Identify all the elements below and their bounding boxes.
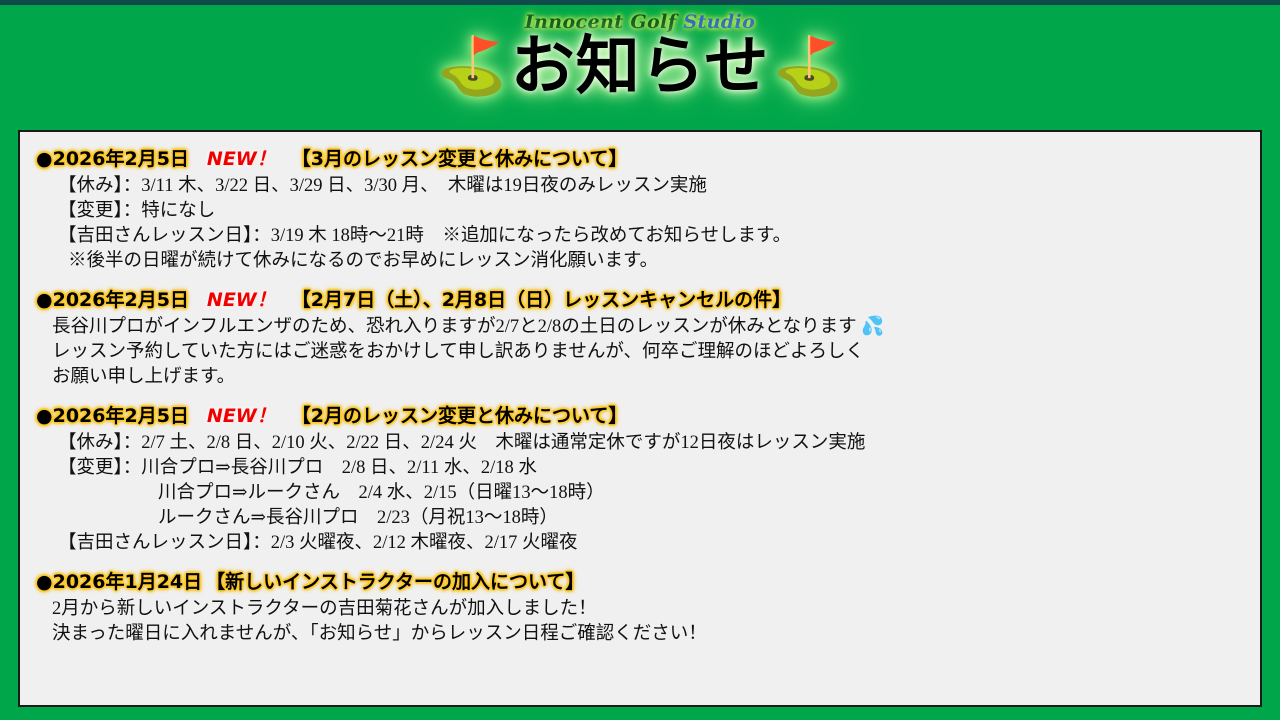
notice-body: 【休み】：2/7 土、2/8 日、2/10 火、2/22 日、2/24 火 木曜… (36, 431, 1244, 556)
new-badge: NEW！ (207, 148, 276, 170)
page-title: お知らせ (511, 35, 770, 99)
notice-line: お願い申し上げます。 (36, 365, 1244, 390)
notice-panel[interactable]: ●2026年2月5日NEW！【3月のレッスン変更と休みについて】【休み】：3/1… (18, 130, 1262, 707)
notice-subject: 【2月7日（土）、2月8日（日）レッスンキャンセルの件】 (292, 289, 791, 311)
notice-headline: ●2026年1月24日【新しいインストラクターの加入について】 (36, 569, 1244, 595)
notice-date: 2026年2月5日 (53, 148, 189, 170)
notice-block: ●2026年1月24日【新しいインストラクターの加入について】2月から新しいイン… (36, 569, 1244, 647)
notice-headline: ●2026年2月5日NEW！【3月のレッスン変更と休みについて】 (36, 146, 1244, 172)
notice-line: 【休み】：3/11 木、3/22 日、3/29 日、3/30 月、 木曜は19日… (36, 174, 1244, 199)
bullet-icon: ● (36, 148, 53, 170)
notice-headline: ●2026年2月5日NEW！【2月7日（土）、2月8日（日）レッスンキャンセルの… (36, 287, 1244, 313)
notice-line: 【吉田さんレッスン日】：3/19 木 18時〜21時 ※追加になったら改めてお知… (36, 224, 1244, 249)
notice-date: 2026年1月24日 (53, 571, 203, 593)
notice-body: 2月から新しいインストラクターの吉田菊花さんが加入しました！決まった曜日に入れま… (36, 597, 1244, 647)
new-badge: NEW！ (207, 405, 276, 427)
notice-line: ルークさん⇒長谷川プロ 2/23（月祝13〜18時） (36, 506, 1244, 531)
golf-flag-icon-right: ⛳ (773, 39, 843, 95)
notice-line: 【変更】：特になし (36, 199, 1244, 224)
notice-block: ●2026年2月5日NEW！【3月のレッスン変更と休みについて】【休み】：3/1… (36, 146, 1244, 274)
notice-date: 2026年2月5日 (53, 289, 189, 311)
notice-line: 【休み】：2/7 土、2/8 日、2/10 火、2/22 日、2/24 火 木曜… (36, 431, 1244, 456)
notice-line: ※後半の日曜が続けて休みになるのでお早めにレッスン消化願います。 (36, 249, 1244, 274)
notice-subject: 【新しいインストラクターの加入について】 (206, 571, 584, 593)
golf-flag-icon-left: ⛳ (437, 39, 507, 95)
notice-body: 【休み】：3/11 木、3/22 日、3/29 日、3/30 月、 木曜は19日… (36, 174, 1244, 274)
notice-subject: 【2月のレッスン変更と休みについて】 (292, 405, 628, 427)
notice-line: レッスン予約していた方にはご迷惑をおかけして申し訳ありませんが、何卒ご理解のほど… (36, 340, 1244, 365)
notice-date: 2026年2月5日 (53, 405, 189, 427)
notice-headline: ●2026年2月5日NEW！【2月のレッスン変更と休みについて】 (36, 403, 1244, 429)
notice-line: 長谷川プロがインフルエンザのため、恐れ入りますが2/7と2/8の土日のレッスンが… (36, 315, 1244, 340)
site-header: Innocent Golf Studio ⛳ お知らせ ⛳ (0, 5, 1280, 130)
bullet-icon: ● (36, 571, 53, 593)
bullet-icon: ● (36, 289, 53, 311)
notice-block: ●2026年2月5日NEW！【2月のレッスン変更と休みについて】【休み】：2/7… (36, 403, 1244, 556)
notice-line: 【吉田さんレッスン日】：2/3 火曜夜、2/12 木曜夜、2/17 火曜夜 (36, 531, 1244, 556)
notice-line: 2月から新しいインストラクターの吉田菊花さんが加入しました！ (36, 597, 1244, 622)
notice-body: 長谷川プロがインフルエンザのため、恐れ入りますが2/7と2/8の土日のレッスンが… (36, 315, 1244, 390)
notice-block: ●2026年2月5日NEW！【2月7日（土）、2月8日（日）レッスンキャンセルの… (36, 287, 1244, 390)
notice-line: 【変更】：川合プロ⇒長谷川プロ 2/8 日、2/11 水、2/18 水 (36, 456, 1244, 481)
notice-line: 決まった曜日に入れませんが、「お知らせ」からレッスン日程ご確認ください！ (36, 622, 1244, 647)
page-title-row: ⛳ お知らせ ⛳ (437, 35, 843, 99)
notice-subject: 【3月のレッスン変更と休みについて】 (292, 148, 628, 170)
notice-line: 川合プロ⇒ルークさん 2/4 水、2/15（日曜13〜18時） (36, 481, 1244, 506)
new-badge: NEW！ (207, 289, 276, 311)
bullet-icon: ● (36, 405, 53, 427)
